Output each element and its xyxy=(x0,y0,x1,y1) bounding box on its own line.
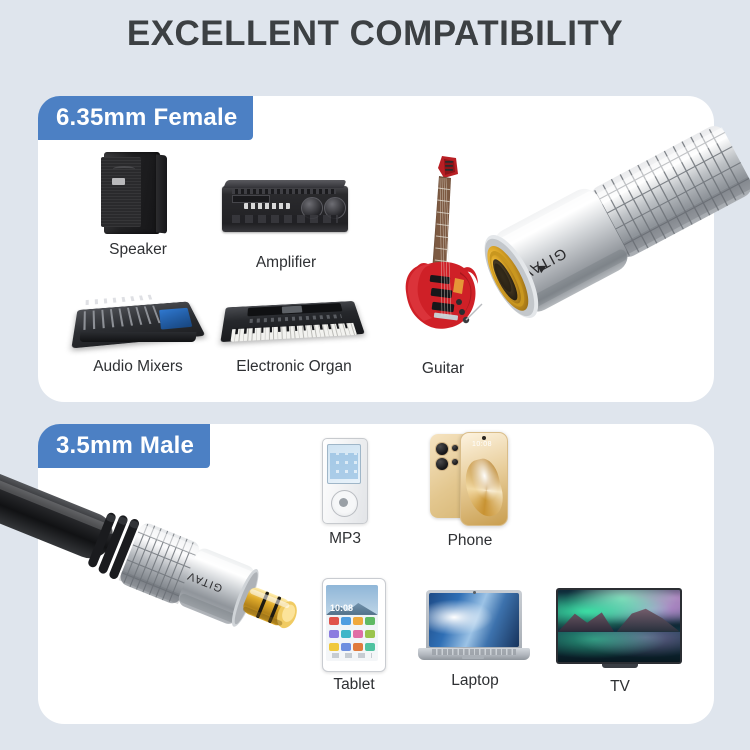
device-label: Phone xyxy=(430,532,510,550)
device-label: MP3 xyxy=(322,530,368,548)
device-speaker: Speaker xyxy=(96,152,180,259)
device-tablet: 10:08 Tablet xyxy=(322,578,386,694)
mp3-player-icon xyxy=(322,438,368,526)
device-tv: TV xyxy=(556,588,684,696)
audio-mixer-icon xyxy=(74,282,202,354)
device-label: Audio Mixers xyxy=(74,358,202,376)
smartphone-icon: 10:08 xyxy=(430,434,510,528)
device-label: Tablet xyxy=(322,676,386,694)
device-label: Guitar xyxy=(398,360,488,378)
device-label: Electronic Organ xyxy=(224,358,364,376)
amplifier-icon xyxy=(222,180,350,238)
device-guitar: Guitar xyxy=(398,152,488,378)
guitar-icon xyxy=(398,152,488,358)
device-mp3: MP3 xyxy=(322,438,368,548)
device-label: Amplifier xyxy=(222,254,350,272)
device-laptop: Laptop xyxy=(418,590,532,690)
device-amplifier: Amplifier xyxy=(222,180,350,272)
tv-icon xyxy=(556,588,684,670)
phone-status-time: 10:08 xyxy=(472,441,492,448)
page-title: EXCELLENT COMPATIBILITY xyxy=(0,14,750,54)
tablet-icon: 10:08 xyxy=(322,578,386,672)
electronic-organ-icon xyxy=(224,288,364,354)
device-phone: 10:08 Phone xyxy=(430,434,510,550)
speaker-icon xyxy=(96,152,180,238)
device-label: Laptop xyxy=(418,672,532,690)
laptop-icon xyxy=(418,590,532,664)
device-label: TV xyxy=(556,678,684,696)
badge-3-5mm-male: 3.5mm Male xyxy=(38,424,210,468)
device-label: Speaker xyxy=(96,241,180,259)
badge-6-35mm-female: 6.35mm Female xyxy=(38,96,253,140)
device-electronic-organ: Electronic Organ xyxy=(224,288,364,376)
device-audio-mixers: Audio Mixers xyxy=(74,282,202,376)
tablet-clock: 10:08 xyxy=(330,603,353,613)
